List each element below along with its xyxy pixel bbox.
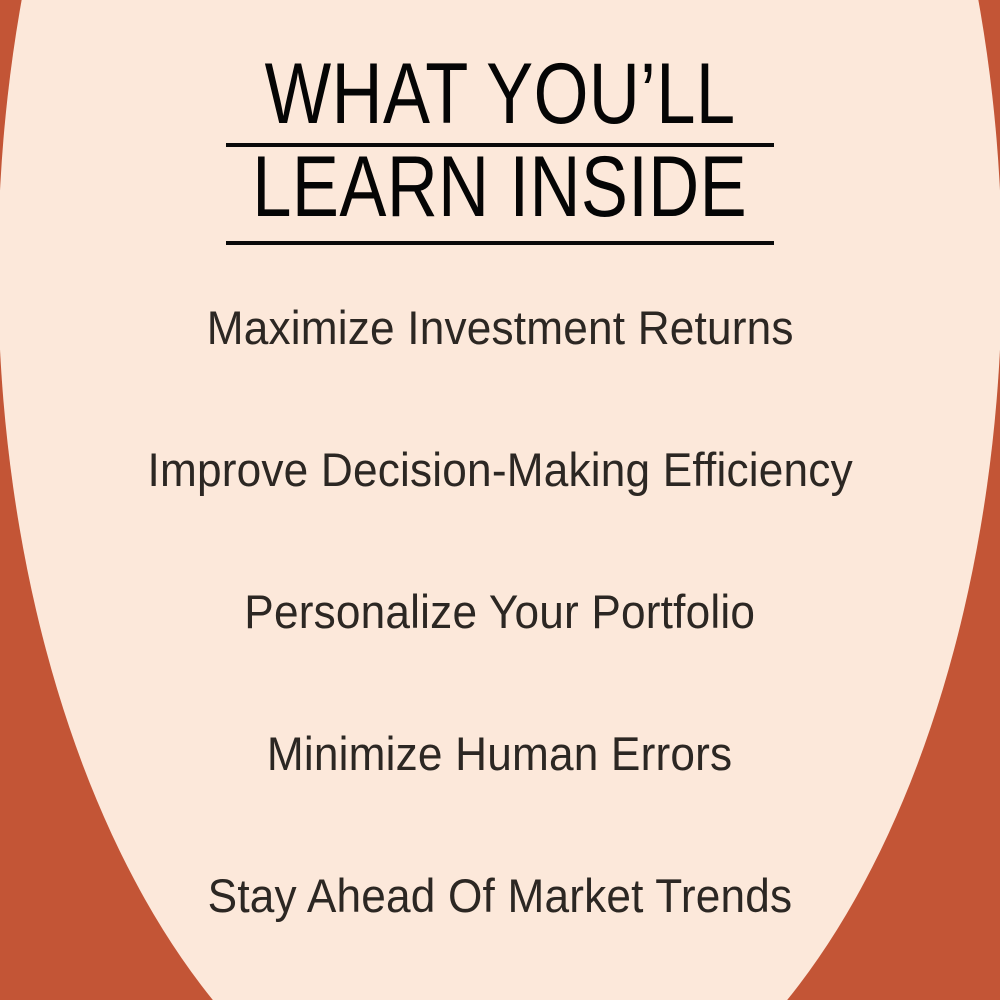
poster-canvas: WHAT YOU’LL LEARN INSIDE Maximize Invest… (0, 0, 1000, 1000)
benefit-label: Personalize Your Portfolio (245, 580, 756, 644)
list-item: Minimize Human Errors (0, 722, 1000, 864)
list-item: Improve Decision-Making Efficiency (0, 438, 1000, 580)
title-line-2: LEARN INSIDE (0, 145, 1000, 241)
benefit-list: Maximize Investment Returns Improve Deci… (0, 296, 1000, 1000)
benefit-label: Maximize Investment Returns (207, 296, 794, 360)
benefit-label: Improve Decision-Making Efficiency (147, 438, 852, 502)
benefit-label: Minimize Human Errors (267, 722, 732, 786)
title-line-1: WHAT YOU’LL (0, 52, 1000, 144)
list-item: Maximize Investment Returns (0, 296, 1000, 438)
list-item: Stay Ahead Of Market Trends (0, 864, 1000, 1000)
title-line-2-text: LEARN INSIDE (251, 145, 749, 229)
benefit-label: Stay Ahead Of Market Trends (208, 864, 793, 928)
list-item: Personalize Your Portfolio (0, 580, 1000, 722)
title-underline-2 (226, 241, 774, 245)
title-line-1-text: WHAT YOU’LL (263, 52, 737, 136)
page-title: WHAT YOU’LL LEARN INSIDE (0, 52, 1000, 241)
